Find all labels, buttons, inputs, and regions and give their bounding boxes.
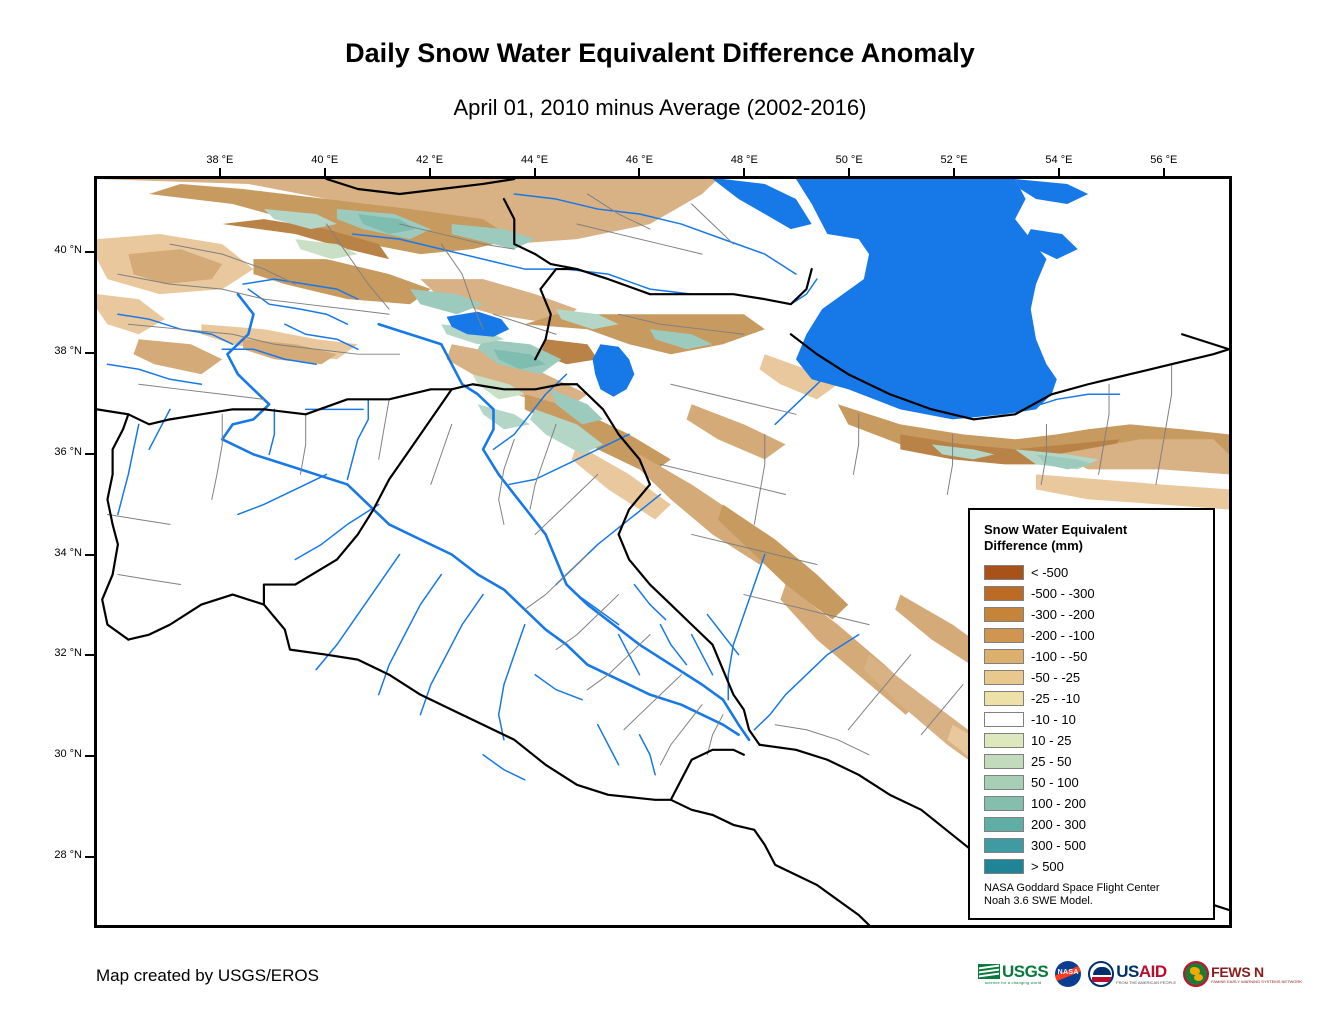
legend-label: > 500 [1031,859,1064,874]
nasa-logo: NASA [1055,959,1081,989]
legend-swatch [984,838,1024,853]
usgs-wordmark: USGS [1002,964,1048,980]
legend-items: < -500-500 - -300-300 - -200-200 - -100-… [984,562,1213,877]
usaid-logo: USAID FROM THE AMERICAN PEOPLE [1088,959,1176,989]
lat-tick-label: 34 °N [22,547,82,559]
lat-tick-label: 40 °N [22,244,82,256]
legend-title-line1: Snow Water Equivalent [984,522,1184,538]
lat-tick [85,654,94,656]
legend-label: -200 - -100 [1031,628,1095,643]
legend-row[interactable]: -200 - -100 [984,625,1213,646]
legend-swatch [984,754,1024,769]
legend-row[interactable]: 200 - 300 [984,814,1213,835]
legend-swatch [984,859,1024,874]
nasa-meatball-icon: NASA [1055,961,1081,987]
legend-panel[interactable]: Snow Water Equivalent Difference (mm) < … [968,508,1215,920]
legend-row[interactable]: 25 - 50 [984,751,1213,772]
legend-label: -500 - -300 [1031,586,1095,601]
legend-label: 300 - 500 [1031,838,1086,853]
legend-swatch [984,733,1024,748]
legend-swatch [984,607,1024,622]
legend-swatch [984,712,1024,727]
legend-label: -10 - 10 [1031,712,1076,727]
legend-label: 10 - 25 [1031,733,1071,748]
legend-source-line1: NASA Goddard Space Flight Center [984,882,1159,895]
usaid-wordmark-aid: AID [1139,962,1167,981]
fews-wordmark: FEWS N [1211,965,1302,979]
legend-label: 100 - 200 [1031,796,1086,811]
legend-swatch [984,586,1024,601]
map-credit: Map created by USGS/EROS [96,966,319,986]
legend-swatch [984,670,1024,685]
lat-tick [85,453,94,455]
lon-tick-label: 52 °E [924,154,984,166]
legend-swatch [984,649,1024,664]
usaid-wordmark-us: US [1116,962,1139,981]
legend-swatch [984,565,1024,580]
lon-tick-label: 56 °E [1134,154,1194,166]
nasa-wordmark: NASA [1055,969,1081,976]
fews-tagline: FAMINE EARLY WARNING SYSTEMS NETWORK [1211,979,1302,984]
legend-row[interactable]: 10 - 25 [984,730,1213,751]
legend-row[interactable]: -10 - 10 [984,709,1213,730]
page-title: Daily Snow Water Equivalent Difference A… [0,38,1320,69]
legend-label: -25 - -10 [1031,691,1080,706]
lon-tick-label: 38 °E [190,154,250,166]
lat-tick-label: 28 °N [22,849,82,861]
lat-tick-label: 36 °N [22,446,82,458]
lon-tick-label: 44 °E [505,154,565,166]
usaid-tagline: FROM THE AMERICAN PEOPLE [1116,980,1176,985]
fews-net-logo: FEWS N FAMINE EARLY WARNING SYSTEMS NETW… [1183,959,1302,989]
legend-label: -300 - -200 [1031,607,1095,622]
lat-tick [85,856,94,858]
legend-swatch [984,691,1024,706]
legend-source: NASA Goddard Space Flight Center Noah 3.… [984,882,1159,908]
lat-tick [85,251,94,253]
usaid-seal-icon [1088,961,1114,987]
legend-source-line2: Noah 3.6 SWE Model. [984,895,1159,908]
lat-tick [85,755,94,757]
lat-tick [85,352,94,354]
lon-tick-label: 40 °E [295,154,355,166]
agency-logos: USGS science for a changing world NASA U… [978,957,1302,991]
legend-swatch [984,817,1024,832]
legend-label: < -500 [1031,565,1068,580]
legend-label: -100 - -50 [1031,649,1087,664]
legend-row[interactable]: -100 - -50 [984,646,1213,667]
legend-row[interactable]: -300 - -200 [984,604,1213,625]
fews-globe-icon [1183,961,1209,987]
lon-tick-label: 48 °E [714,154,774,166]
legend-label: 50 - 100 [1031,775,1079,790]
legend-row[interactable]: > 500 [984,856,1213,877]
legend-label: -50 - -25 [1031,670,1080,685]
legend-swatch [984,796,1024,811]
lat-tick-label: 30 °N [22,748,82,760]
legend-row[interactable]: 50 - 100 [984,772,1213,793]
legend-row[interactable]: -50 - -25 [984,667,1213,688]
lon-tick-label: 54 °E [1029,154,1089,166]
legend-row[interactable]: < -500 [984,562,1213,583]
usgs-tagline: science for a changing world [985,980,1041,985]
lon-tick-label: 50 °E [819,154,879,166]
usgs-logo: USGS science for a changing world [978,959,1048,989]
lat-tick-label: 32 °N [22,647,82,659]
legend-title-line2: Difference (mm) [984,538,1184,554]
lat-tick-label: 38 °N [22,345,82,357]
legend-label: 25 - 50 [1031,754,1071,769]
legend-row[interactable]: 100 - 200 [984,793,1213,814]
legend-label: 200 - 300 [1031,817,1086,832]
lon-tick-label: 46 °E [609,154,669,166]
legend-swatch [984,628,1024,643]
legend-title: Snow Water Equivalent Difference (mm) [984,522,1184,554]
legend-row[interactable]: 300 - 500 [984,835,1213,856]
legend-row[interactable]: -500 - -300 [984,583,1213,604]
lat-tick [85,554,94,556]
legend-swatch [984,775,1024,790]
lon-tick-label: 42 °E [400,154,460,166]
legend-row[interactable]: -25 - -10 [984,688,1213,709]
page-subtitle: April 01, 2010 minus Average (2002-2016) [0,95,1320,121]
usgs-waves-icon [978,964,1000,979]
